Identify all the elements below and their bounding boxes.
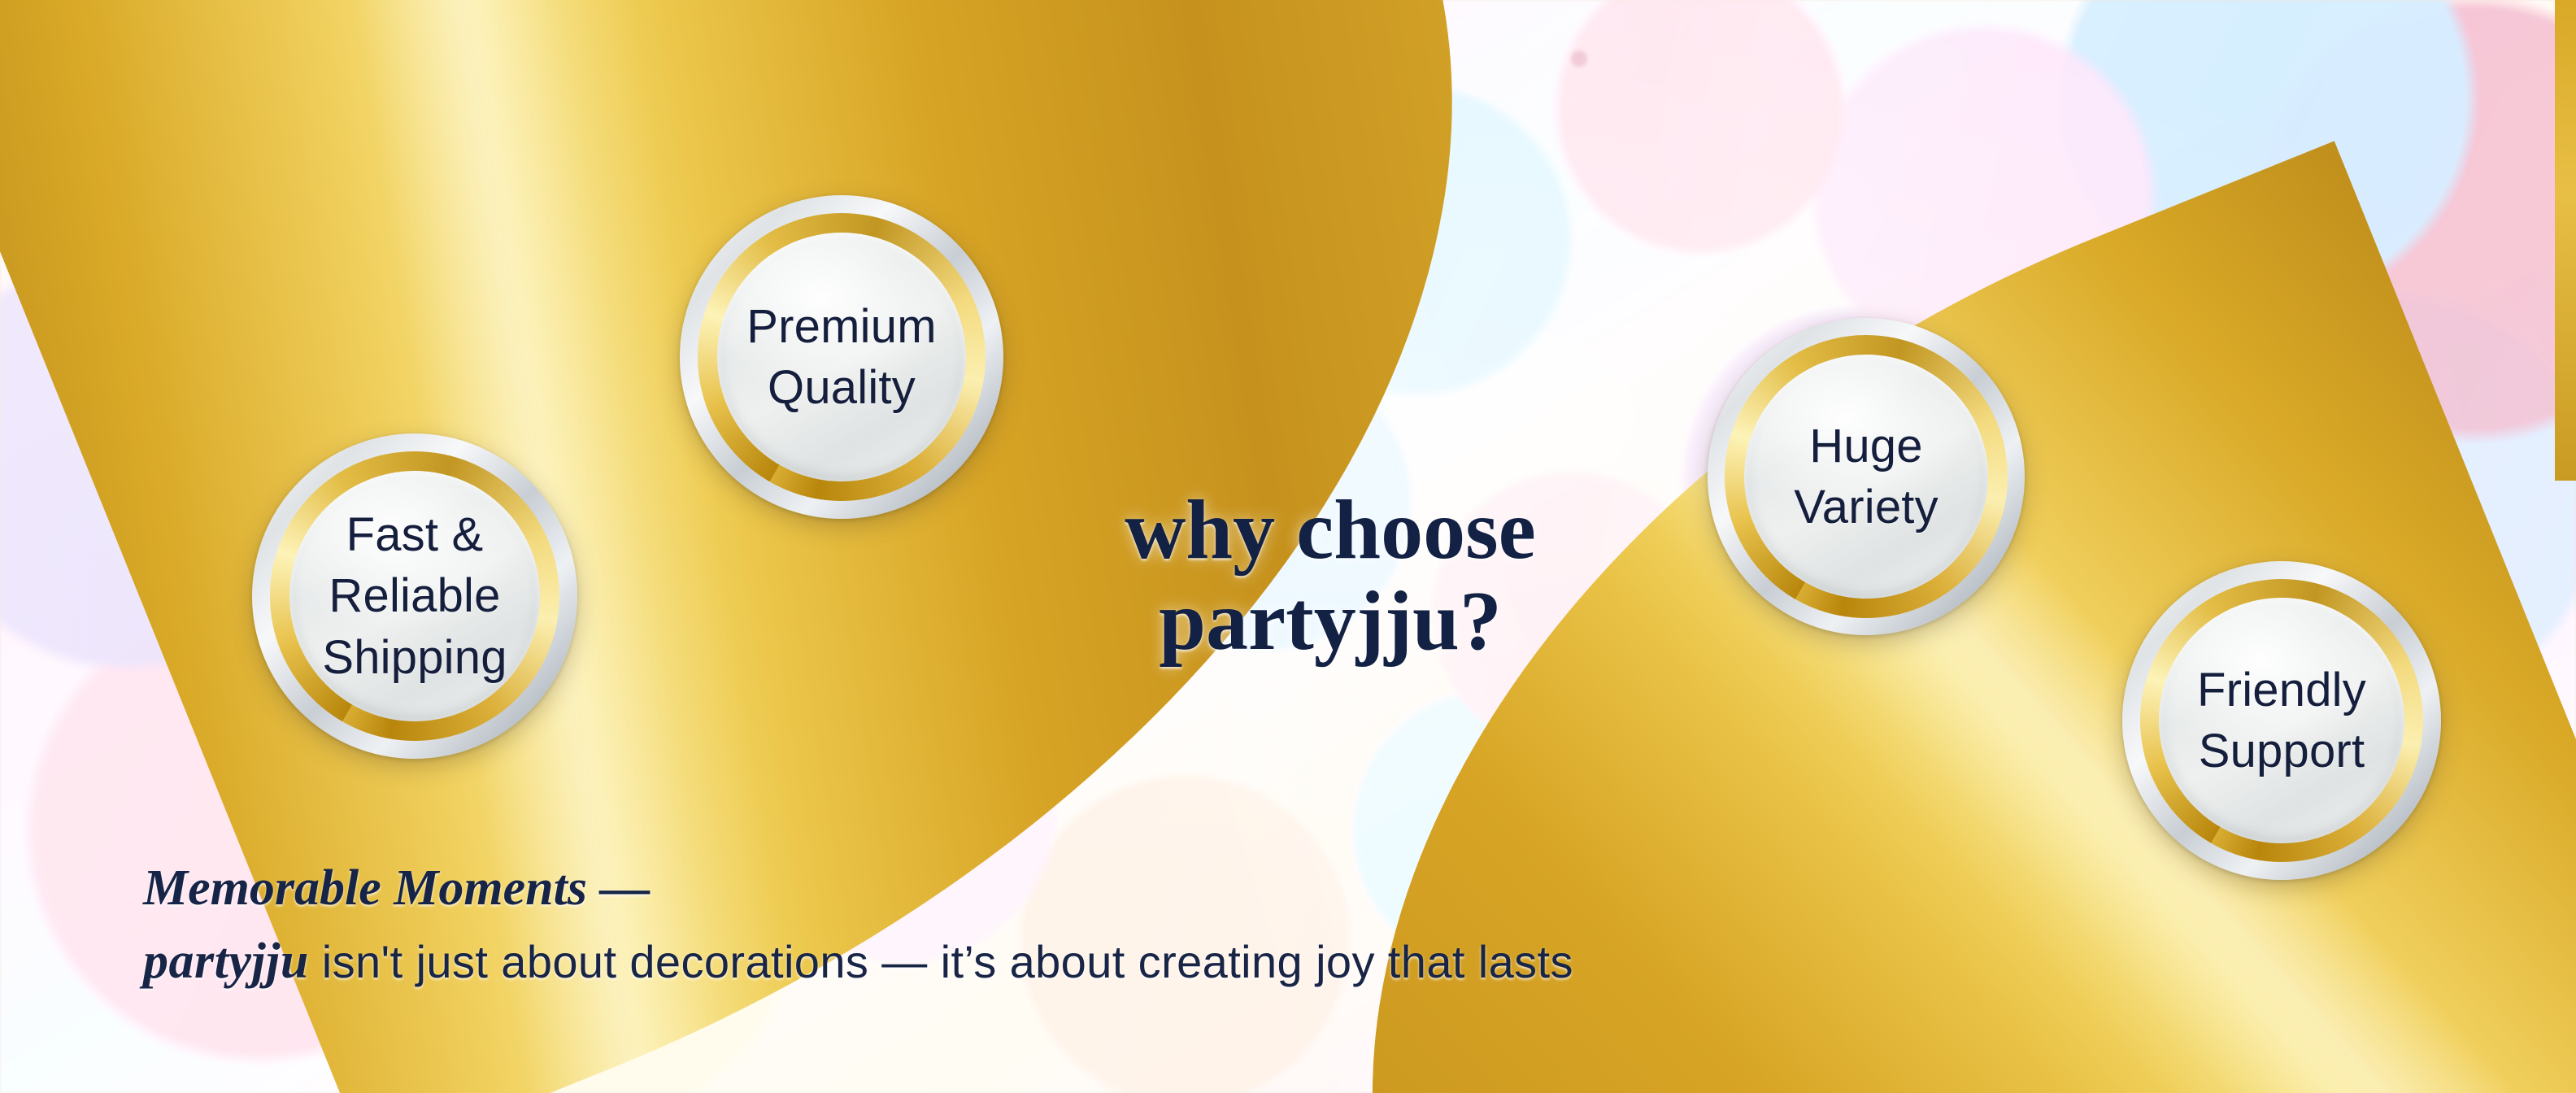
page-title: why choose partyjju?	[1046, 485, 1615, 668]
badge-inner-face: Premium Quality	[717, 233, 966, 481]
badge-label: Fast & Reliable Shipping	[307, 504, 522, 688]
tagline-rest-text: isn't just about decorations — it’s abou…	[309, 936, 1573, 987]
badge-inner-face: Friendly Support	[2159, 598, 2404, 843]
badge-friendly-support[interactable]: Friendly Support	[2122, 561, 2441, 880]
tagline: Memorable Moments — partyjju isn't just …	[143, 860, 1573, 989]
badge-premium-quality[interactable]: Premium Quality	[680, 195, 1003, 519]
balloon-dot	[1571, 50, 1587, 67]
badge-label: Friendly Support	[2182, 660, 2381, 782]
badge-huge-variety[interactable]: Huge Variety	[1708, 318, 2025, 635]
tagline-line-2: partyjju isn't just about decorations — …	[143, 934, 1573, 989]
badge-inner-face: Huge Variety	[1744, 355, 1988, 599]
tagline-line-1: Memorable Moments —	[143, 860, 1573, 916]
badge-inner-face: Fast & Reliable Shipping	[289, 471, 540, 721]
badge-label: Huge Variety	[1779, 416, 1953, 538]
brand-name-inline: partyjju	[143, 934, 309, 989]
gold-edge-strip-right	[2555, 0, 2576, 481]
badge-fast-reliable-shipping[interactable]: Fast & Reliable Shipping	[252, 433, 577, 759]
badge-label: Premium Quality	[732, 296, 951, 419]
why-choose-banner: why choose partyjju? Fast & Reliable Shi…	[0, 0, 2576, 1093]
